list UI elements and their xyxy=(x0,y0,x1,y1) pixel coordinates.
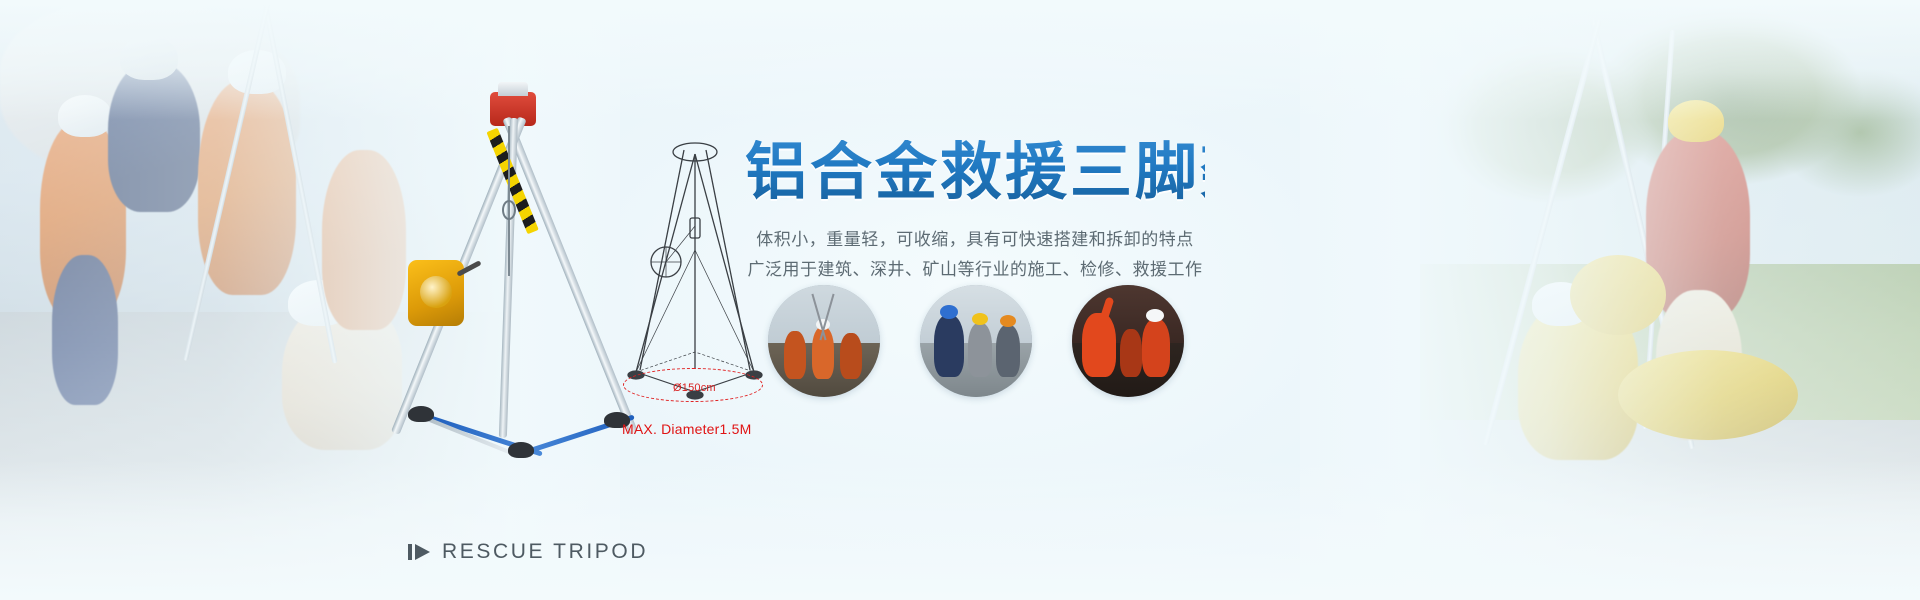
tripod-foot xyxy=(408,406,434,422)
brand-caption: RESCUE TRIPOD xyxy=(408,540,648,564)
application-photo-2[interactable] xyxy=(920,285,1032,397)
worker-figure xyxy=(968,323,992,377)
helmet-icon xyxy=(1000,315,1016,327)
worker-figure xyxy=(1120,329,1142,377)
headline-block: 铝合金救援三脚架 体积小，重量轻，可收缩，具有可快速搭建和拆卸的特点 广泛用于建… xyxy=(745,140,1205,284)
worker-figure xyxy=(934,315,964,377)
subtitle-line-1: 体积小，重量轻，可收缩，具有可快速搭建和拆卸的特点 xyxy=(745,225,1205,255)
bottom-fade xyxy=(0,460,1920,600)
diameter-max-label: MAX. Diameter1.5M xyxy=(622,421,751,437)
diameter-small-label: Ø150cm xyxy=(673,382,716,394)
play-triangle-icon xyxy=(408,542,432,562)
worker-figure xyxy=(1142,319,1170,377)
tripod-foot xyxy=(508,442,534,458)
tripod-head-cap xyxy=(498,82,528,96)
worker-figure xyxy=(784,331,806,379)
brand-caption-label: RESCUE TRIPOD xyxy=(442,540,648,564)
application-photo-row xyxy=(768,285,1184,397)
helmet-icon xyxy=(1146,309,1164,322)
top-fade xyxy=(0,0,1920,120)
helmet-icon xyxy=(940,305,958,319)
helmet-icon xyxy=(972,313,988,325)
worker-figure xyxy=(996,325,1020,377)
subtitle-line-2: 广泛用于建筑、深井、矿山等行业的施工、检修、救援工作 xyxy=(745,255,1205,285)
page-title: 铝合金救援三脚架 xyxy=(745,140,1205,207)
worker-figure xyxy=(840,333,862,379)
carabiner-icon xyxy=(502,200,516,220)
application-photo-1[interactable] xyxy=(768,285,880,397)
application-photo-3[interactable] xyxy=(1072,285,1184,397)
product-banner: Ø150cm MAX. Diameter1.5M 铝合金救援三脚架 体积小，重量… xyxy=(0,0,1920,600)
winch-drum xyxy=(420,276,452,308)
